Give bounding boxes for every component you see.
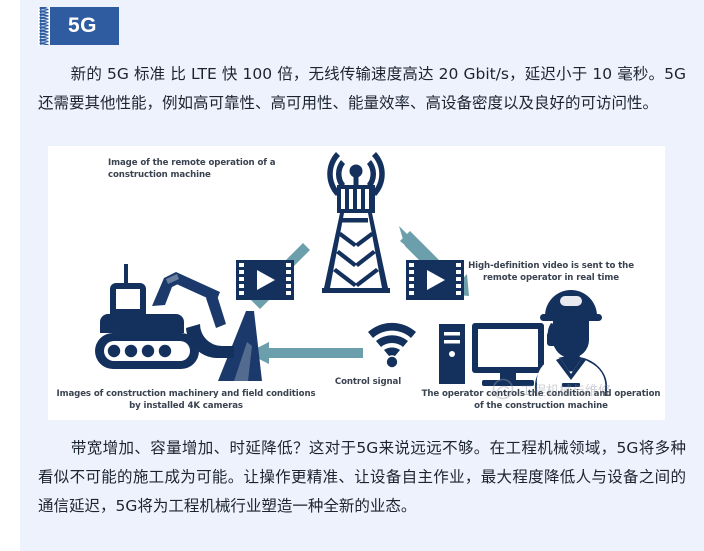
label-operator: The operator controls the condition and …	[418, 388, 664, 412]
paragraph-bottom-text: 带宽增加、容量增加、时延降低？这对于5G来说远远不够。在工程机械领域，5G将多种…	[38, 439, 686, 515]
badge-label: 5G	[50, 7, 119, 45]
page-root: 5G 新的 5G 标准 比 LTE 快 100 倍，无线传输速度高达 20 Gb…	[0, 0, 704, 551]
paragraph-bottom: 带宽增加、容量增加、时延降低？这对于5G来说远远不够。在工程机械领域，5G将多种…	[38, 434, 686, 521]
zigzag-decoration-icon	[38, 7, 50, 45]
paragraph-top: 新的 5G 标准 比 LTE 快 100 倍，无线传输速度高达 20 Gbit/…	[38, 60, 686, 118]
section-badge: 5G	[38, 7, 119, 45]
label-remote-operation: Image of the remote operation of a const…	[108, 157, 338, 181]
header: 5G	[20, 0, 704, 52]
label-hd-video: High-definition video is sent to the rem…	[456, 260, 646, 284]
film-play-icon-left	[236, 260, 294, 300]
paragraph-top-text: 新的 5G 标准 比 LTE 快 100 倍，无线传输速度高达 20 Gbit/…	[38, 65, 686, 112]
diagram-panel: Image of the remote operation of a const…	[48, 146, 665, 420]
label-control-signal: Control signal	[303, 376, 433, 388]
label-cameras: Images of construction machinery and fie…	[56, 388, 316, 412]
pc-tower-icon	[439, 324, 465, 384]
